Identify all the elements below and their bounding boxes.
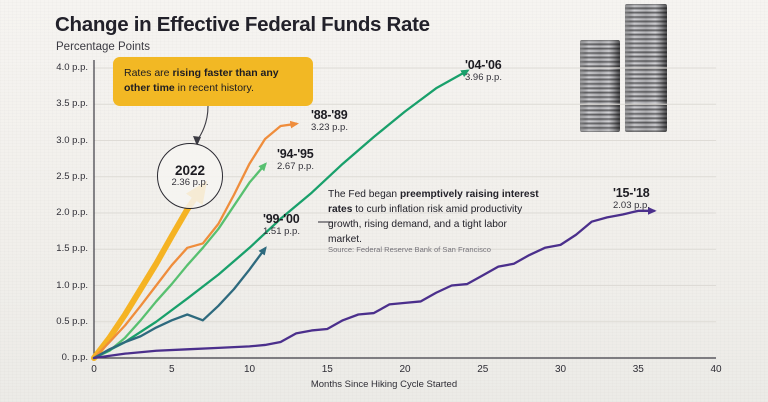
x-tick-label: 25 bbox=[468, 364, 498, 375]
y-tick-label: 2.5 p.p. bbox=[34, 171, 88, 182]
y-tick-label: 3.0 p.p. bbox=[34, 135, 88, 146]
y-tick-label: 3.5 p.p. bbox=[34, 98, 88, 109]
series-label-88-89-value: 3.23 p.p. bbox=[311, 123, 348, 134]
x-tick-label: 0 bbox=[79, 364, 109, 375]
series-label-15-18-value: 2.03 p.p. bbox=[613, 201, 650, 212]
source-note: Source: Federal Reserve Bank of San Fran… bbox=[328, 245, 568, 254]
y-tick-label: 4.0 p.p. bbox=[34, 62, 88, 73]
highlight-circle-2022: 2022 2.36 p.p. bbox=[157, 143, 223, 209]
x-tick-label: 40 bbox=[701, 364, 731, 375]
x-tick-label: 35 bbox=[623, 364, 653, 375]
series-label-04-06-name: '04-'06 bbox=[465, 58, 502, 72]
x-tick-label: 5 bbox=[157, 364, 187, 375]
series-label-15-18-name: '15-'18 bbox=[613, 186, 650, 200]
body-note-text-2: to curb inflation risk amid productivity… bbox=[328, 204, 522, 245]
highlight-circle-year: 2022 bbox=[175, 163, 205, 178]
x-tick-label: 30 bbox=[546, 364, 576, 375]
y-tick-label: 1.0 p.p. bbox=[34, 280, 88, 291]
body-note-text-1: The Fed began bbox=[328, 189, 400, 200]
series-label-04-06: '04-'06 3.96 p.p. bbox=[465, 58, 502, 84]
y-tick-label: 0.5 p.p. bbox=[34, 316, 88, 327]
y-tick-label: 1.5 p.p. bbox=[34, 243, 88, 254]
x-tick-label: 10 bbox=[235, 364, 265, 375]
y-tick-label: 0. p.p. bbox=[34, 352, 88, 363]
callout-text-2: in recent history. bbox=[175, 82, 254, 94]
series-label-15-18: '15-'18 2.03 p.p. bbox=[613, 186, 650, 212]
y-tick-label: 2.0 p.p. bbox=[34, 207, 88, 218]
highlight-circle-value: 2.36 p.p. bbox=[172, 178, 209, 189]
series-label-88-89-name: '88-'89 bbox=[311, 108, 348, 122]
series-label-88-89: '88-'89 3.23 p.p. bbox=[311, 108, 348, 134]
body-note: The Fed began preemptively raising inter… bbox=[328, 188, 540, 248]
series-label-94-95-name: '94-'95 bbox=[277, 147, 314, 161]
series-label-94-95-value: 2.67 p.p. bbox=[277, 162, 314, 173]
x-axis-title: Months Since Hiking Cycle Started bbox=[0, 379, 768, 390]
series-label-99-00-name: '99-'00 bbox=[263, 212, 300, 226]
series-label-94-95: '94-'95 2.67 p.p. bbox=[277, 147, 314, 173]
chart-figure: Change in Effective Federal Funds Rate P… bbox=[0, 0, 768, 402]
x-tick-label: 15 bbox=[312, 364, 342, 375]
x-tick-label: 20 bbox=[390, 364, 420, 375]
series-label-99-00: '99-'00 1.51 p.p. bbox=[263, 212, 300, 238]
callout-text-1: Rates are bbox=[124, 67, 172, 79]
series-label-04-06-value: 3.96 p.p. bbox=[465, 73, 502, 84]
callout-box: Rates are rising faster than any other t… bbox=[113, 57, 313, 106]
series-label-99-00-value: 1.51 p.p. bbox=[263, 227, 300, 238]
